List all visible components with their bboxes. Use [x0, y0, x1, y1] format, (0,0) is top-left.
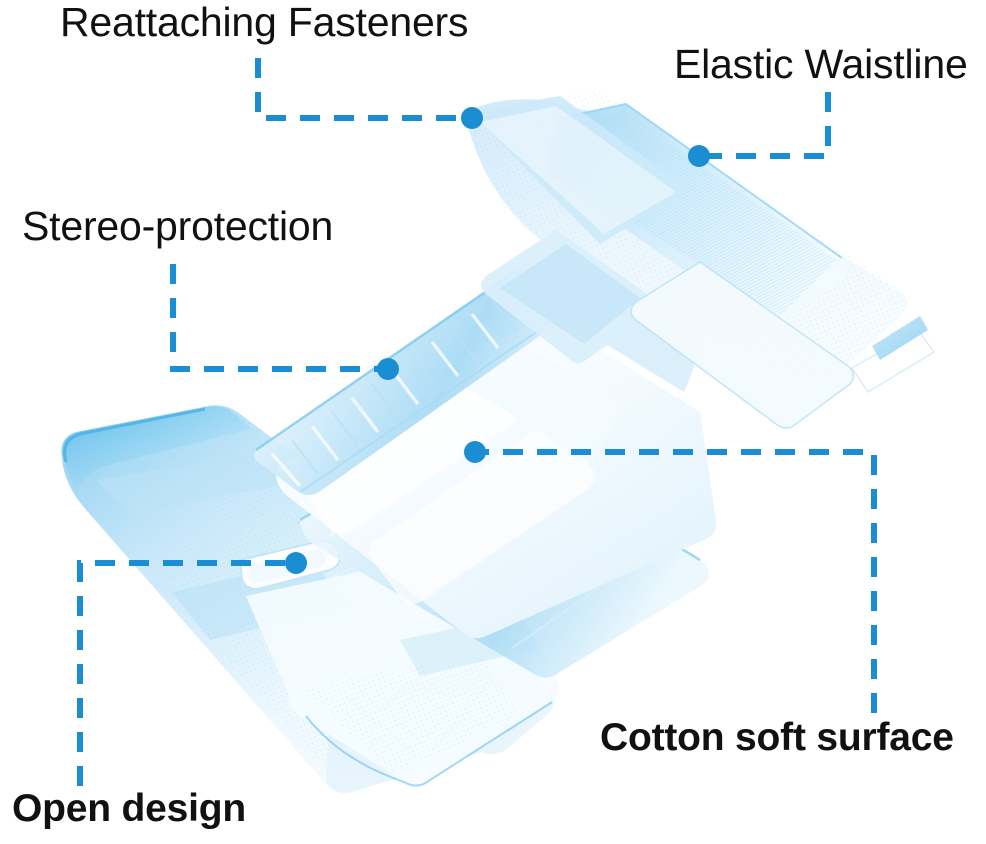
leader-line-reattaching-fasteners — [258, 58, 483, 129]
feature-callout-diagram: Reattaching Fasteners Elastic Waistline … — [0, 0, 986, 844]
callout-label-stereo-protection: Stereo-protection — [22, 206, 333, 247]
callout-dot-open-design — [285, 552, 307, 574]
leader-line-stereo-protection — [173, 264, 399, 380]
leader-line-open-design — [80, 552, 307, 786]
callout-dot-reattaching-fasteners — [461, 107, 483, 129]
callout-label-cotton-soft-surface: Cotton soft surface — [600, 718, 954, 757]
callout-dot-cotton-soft-surface — [464, 441, 486, 463]
callout-label-elastic-waistline: Elastic Waistline — [674, 44, 968, 85]
callout-label-open-design: Open design — [12, 789, 246, 828]
leader-line-cotton-soft-surface — [464, 441, 874, 713]
callout-dot-stereo-protection — [377, 358, 399, 380]
callout-dot-elastic-waistline — [688, 145, 710, 167]
callout-label-reattaching-fasteners: Reattaching Fasteners — [60, 2, 468, 43]
leader-line-elastic-waistline — [688, 92, 828, 167]
